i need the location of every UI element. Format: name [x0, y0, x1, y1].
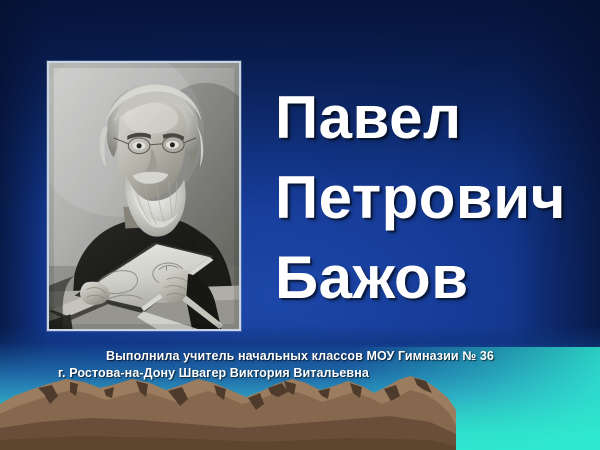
presentation-slide: Павел Петрович Бажов Выполнила учитель н…	[0, 0, 600, 450]
slide-footer-credit: Выполнила учитель начальных классов МОУ …	[0, 348, 600, 382]
title-line-2: Петрович	[275, 158, 595, 238]
portrait-photo	[47, 61, 241, 331]
footer-line-1: Выполнила учитель начальных классов МОУ …	[14, 348, 586, 365]
footer-line-2: г. Ростова-на-Дону Швагер Виктория Витал…	[14, 365, 586, 382]
title-line-3: Бажов	[275, 238, 595, 318]
portrait-photo-image	[49, 63, 239, 329]
bottom-decorative-band	[0, 325, 600, 450]
slide-title: Павел Петрович Бажов	[275, 78, 595, 318]
mountain-range-graphic	[0, 370, 600, 450]
title-line-1: Павел	[275, 78, 595, 158]
